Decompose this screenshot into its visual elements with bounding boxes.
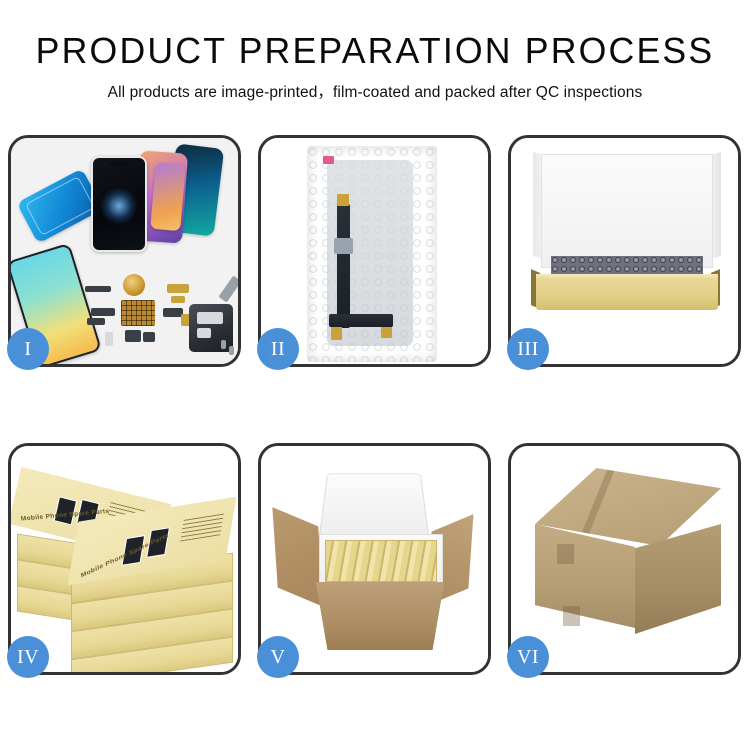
process-panel-6: VI [508, 443, 741, 675]
page-header: PRODUCT PREPARATION PROCESS All products… [0, 0, 750, 102]
process-panel-3: III [508, 135, 741, 367]
speaker-mesh-part [121, 300, 155, 326]
screw-2 [229, 346, 234, 355]
screen-glow [100, 187, 138, 225]
speaker-coil-part [123, 274, 145, 296]
part-flex-gold-2 [171, 296, 185, 303]
panel-2-numeral-badge: II [257, 328, 299, 370]
housing-detail-1 [197, 312, 223, 324]
box-front-panel [536, 278, 718, 310]
bubble-wrap-bag [307, 146, 437, 362]
flex-gold-contact-top [337, 194, 349, 206]
carton-flap-left [272, 507, 323, 607]
panel-4-image: Mobile Phone Spare Parts Mobile Phone Sp… [11, 446, 238, 672]
part-small-1 [105, 332, 113, 346]
process-panel-2: II [258, 135, 491, 367]
part-camera [125, 330, 141, 342]
panel-5-image [261, 446, 488, 672]
process-panel-1: I [8, 135, 241, 367]
part-flex-gold-1 [167, 284, 189, 293]
panel-3-numeral-badge: III [507, 328, 549, 370]
part-flex-2 [87, 318, 105, 325]
flex-connector-bar [329, 314, 393, 327]
flex-ic-chip [334, 238, 353, 254]
black-screen-phone [91, 156, 147, 252]
carton-left-face [535, 524, 635, 628]
page-title: PRODUCT PREPARATION PROCESS [4, 30, 747, 71]
gold-phone [150, 163, 186, 231]
screw-1 [221, 340, 226, 349]
panel-3-image [511, 138, 738, 364]
housing-detail-2 [197, 328, 211, 338]
panel-2-image [261, 138, 488, 364]
foam-lid [318, 473, 430, 542]
process-panel-grid: I II III [8, 135, 742, 675]
carton-body [307, 582, 453, 650]
panel-1-numeral-badge: I [7, 328, 49, 370]
spare-parts-cluster [85, 274, 235, 364]
carton-tab-upper [557, 544, 574, 564]
process-panel-5: V [258, 443, 491, 675]
panel-6-numeral-badge: VI [507, 636, 549, 678]
part-flex-3 [163, 308, 183, 317]
carton-tab-lower [563, 606, 580, 626]
pink-qc-label [323, 156, 334, 164]
panel-1-image [11, 138, 238, 364]
flex-cable [337, 204, 350, 328]
packed-yellow-boxes [325, 540, 437, 582]
panel-6-image [511, 446, 738, 672]
box-open-lid [541, 154, 713, 268]
phone-notch [109, 161, 129, 166]
panel-5-numeral-badge: V [257, 636, 299, 678]
part-flex-1 [91, 308, 115, 316]
box-stack: Mobile Phone Spare Parts Mobile Phone Sp… [11, 446, 238, 672]
part-small-2 [143, 332, 155, 342]
page-subtitle: All products are image-printed，film-coat… [0, 80, 750, 102]
box-art-text-lines-front [180, 513, 224, 542]
panel-4-numeral-badge: IV [7, 636, 49, 678]
part-strip-1 [85, 286, 111, 292]
process-panel-4: Mobile Phone Spare Parts Mobile Phone Sp… [8, 443, 241, 675]
tweezers-part [218, 275, 238, 302]
